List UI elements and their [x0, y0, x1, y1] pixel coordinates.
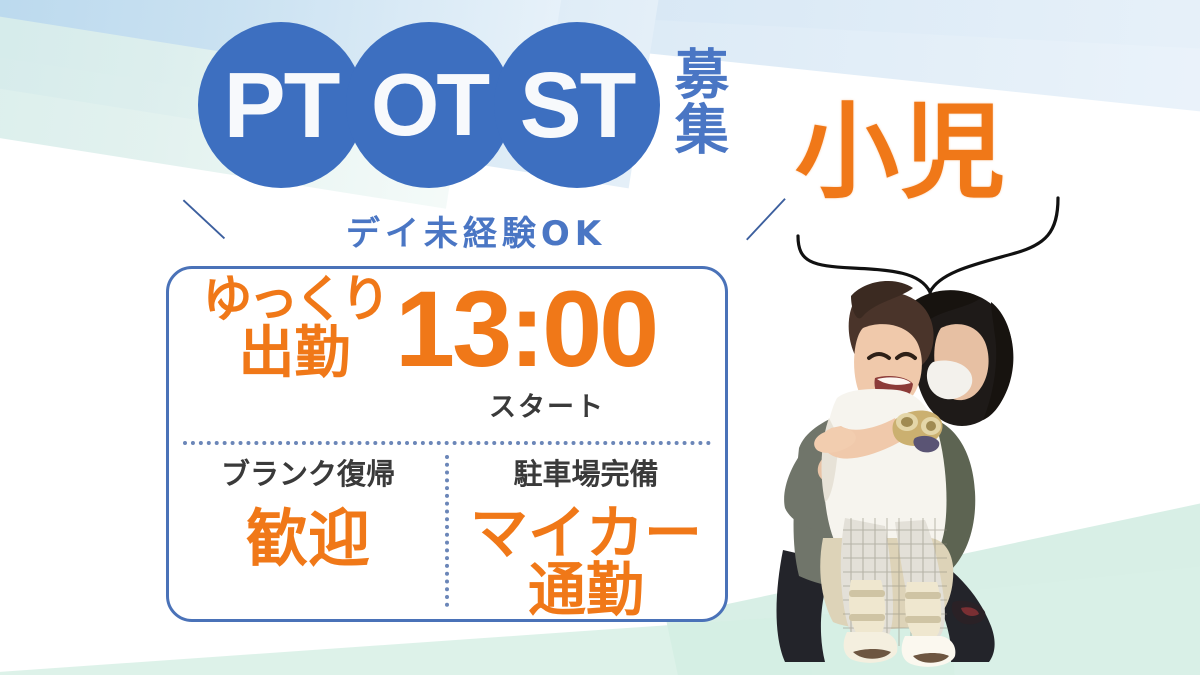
info-card-bottom-row: ブランク復帰 歓迎 駐車場完備 マイカー 通勤	[169, 447, 725, 613]
recruit-label: 募集	[670, 46, 722, 156]
circle-st: ST	[494, 22, 660, 188]
benefit-column-blank-return: ブランク復帰 歓迎	[169, 447, 447, 613]
staff-and-child-photo	[755, 250, 1200, 675]
start-time-value: 13:00	[387, 275, 717, 383]
circle-st-label: ST	[520, 59, 635, 152]
card-horizontal-divider	[183, 441, 711, 445]
benefit-highlight-1: マイカー 通勤	[447, 505, 725, 619]
start-time-caption: スタート	[387, 385, 717, 424]
poster-canvas: PT OT ST 募集 ＼ デイ未経験OK ／ ゆっくり 出勤 13:00 スタ…	[0, 0, 1200, 675]
circle-ot: OT	[346, 22, 512, 188]
benefit-caption-1: 駐車場完備	[447, 451, 725, 493]
pediatrics-badge: 小児	[795, 100, 1007, 204]
benefit-highlight-1-line2: 通勤	[447, 562, 725, 619]
start-time-block: 13:00 スタート	[387, 269, 717, 424]
slow-start-line2: 出勤	[187, 327, 402, 381]
slow-start-line1: ゆっくり	[187, 275, 402, 323]
benefit-caption-0: ブランク復帰	[169, 451, 447, 493]
info-card-top-row: ゆっくり 出勤 13:00 スタート	[169, 269, 725, 441]
header-professions: PT OT ST 募集	[198, 22, 722, 188]
benefit-column-parking: 駐車場完備 マイカー 通勤	[447, 447, 725, 613]
slow-start-block: ゆっくり 出勤	[187, 275, 402, 381]
photo-alt-text: 笑顔の子どもを抱える女性スタッフの写真	[0, 0, 1, 1]
subheadline: ＼ デイ未経験OK ／	[176, 200, 776, 256]
info-card: ゆっくり 出勤 13:00 スタート ブランク復帰 歓迎 駐車場完備 マイカー …	[166, 266, 728, 622]
benefit-highlight-0: 歓迎	[169, 509, 447, 570]
circle-ot-label: OT	[371, 61, 487, 149]
circle-pt-label: PT	[224, 59, 339, 152]
circle-pt: PT	[198, 22, 364, 188]
subheadline-text: デイ未経験OK	[176, 206, 776, 255]
